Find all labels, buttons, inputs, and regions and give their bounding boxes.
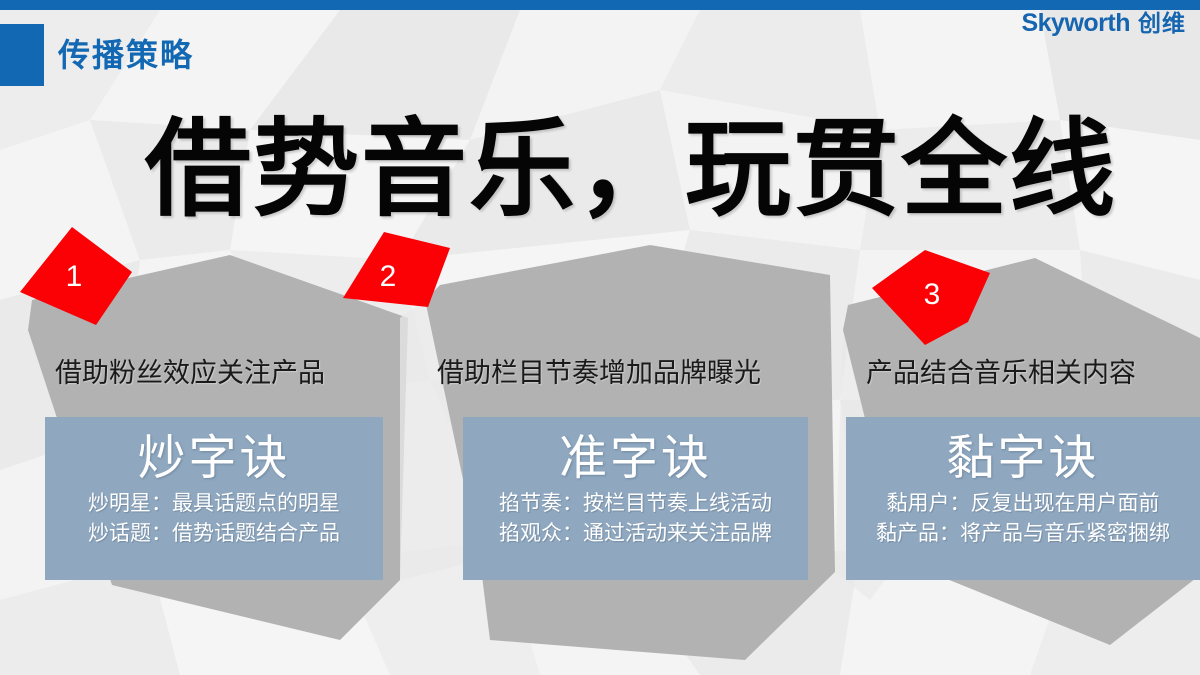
header-accent-bar	[0, 0, 1200, 10]
brand-logo: Skyworth创维	[1021, 8, 1186, 38]
card-box-title-3: 黏字诀	[846, 429, 1200, 489]
main-headline: 借势音乐，玩贯全线	[145, 112, 1117, 228]
badge-number-1: 1	[54, 262, 94, 292]
card-line-2-1: 掐观众：通过活动来关注品牌	[463, 519, 808, 549]
badge-number-3: 3	[912, 280, 952, 310]
card-line-1-0: 炒明星：最具话题点的明星	[45, 489, 383, 519]
brand-name-chinese: 创维	[1138, 10, 1186, 36]
card-box-3: 黏字诀 黏用户：反复出现在用户面前 黏产品：将产品与音乐紧密捆绑	[846, 417, 1200, 580]
card-box-1: 炒字诀 炒明星：最具话题点的明星 炒话题：借势话题结合产品	[45, 417, 383, 580]
header-accent-square	[0, 24, 44, 86]
card-line-2-0: 掐节奏：按栏目节奏上线活动	[463, 489, 808, 519]
card-line-3-0: 黏用户：反复出现在用户面前	[846, 489, 1200, 519]
card-box-title-1: 炒字诀	[45, 429, 383, 489]
card-box-2: 准字诀 掐节奏：按栏目节奏上线活动 掐观众：通过活动来关注品牌	[463, 417, 808, 580]
badge-number-2: 2	[368, 262, 408, 292]
card-heading-3: 产品结合音乐相关内容	[866, 356, 1136, 390]
brand-name-latin: Skyworth	[1021, 9, 1130, 37]
slide-canvas: 传播策略 Skyworth创维 借势音乐，玩贯全线 1 2 3 借助粉丝效应关注…	[0, 0, 1200, 675]
card-line-1-1: 炒话题：借势话题结合产品	[45, 519, 383, 549]
card-heading-1: 借助粉丝效应关注产品	[55, 356, 325, 390]
card-heading-2: 借助栏目节奏增加品牌曝光	[437, 356, 761, 390]
page-title: 传播策略	[58, 28, 194, 82]
card-box-title-2: 准字诀	[463, 429, 808, 489]
card-line-3-1: 黏产品：将产品与音乐紧密捆绑	[846, 519, 1200, 549]
